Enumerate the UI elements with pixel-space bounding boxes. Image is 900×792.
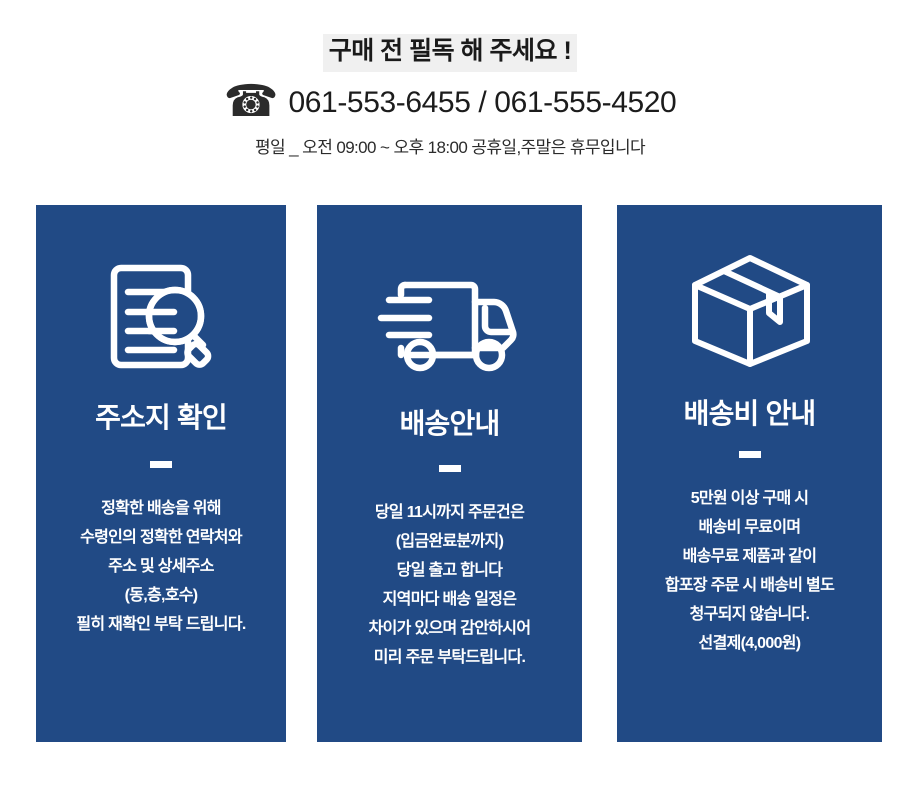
phone-row: ☎ 061-553-6455 / 061-555-4520 (0, 81, 900, 125)
delivery-truck-icon (375, 249, 525, 399)
document-magnifier-icon (102, 243, 220, 393)
shipping-info-graphic: 구매 전 필독 해 주세요 ! ☎ 061-553-6455 / 061-555… (0, 0, 900, 792)
card-heading: 배송안내 (400, 407, 500, 441)
card-divider (150, 461, 172, 468)
body-line: 당일 출고 합니다 (369, 556, 531, 585)
body-line: 지역마다 배송 일정은 (369, 585, 531, 614)
card-divider (739, 451, 761, 458)
package-box-icon (686, 235, 814, 385)
info-cards: 주소지 확인 정확한 배송을 위해 수령인의 정확한 연락처와 주소 및 상세주… (0, 205, 900, 742)
card-shipping-fee-guide: 배송비 안내 5만원 이상 구매 시 배송비 무료이며 배송무료 제품과 같이 … (617, 205, 882, 742)
body-line: 당일 11시까지 주문건은 (369, 498, 531, 527)
body-line: (동,층,호수) (76, 581, 245, 610)
card-body: 정확한 배송을 위해 수령인의 정확한 연락처와 주소 및 상세주소 (동,층,… (68, 494, 253, 639)
body-line: 5만원 이상 구매 시 (665, 484, 834, 513)
card-heading: 배송비 안내 (684, 397, 816, 431)
card-divider (439, 465, 461, 472)
body-line: (입금완료분까지) (369, 527, 531, 556)
body-line: 배송무료 제품과 같이 (665, 542, 834, 571)
card-address-confirmation: 주소지 확인 정확한 배송을 위해 수령인의 정확한 연락처와 주소 및 상세주… (36, 205, 286, 742)
body-line: 차이가 있으며 감안하시어 (369, 614, 531, 643)
body-line: 미리 주문 부탁드립니다. (369, 643, 531, 672)
body-line: 정확한 배송을 위해 (76, 494, 245, 523)
body-line: 선결제(4,000원) (665, 629, 834, 658)
body-line: 수령인의 정확한 연락처와 (76, 523, 245, 552)
body-line: 주소 및 상세주소 (76, 552, 245, 581)
telephone-icon: ☎ (224, 80, 279, 124)
body-line: 배송비 무료이며 (665, 513, 834, 542)
card-body: 5만원 이상 구매 시 배송비 무료이며 배송무료 제품과 같이 합포장 주문 … (657, 484, 842, 658)
card-heading: 주소지 확인 (95, 401, 227, 435)
card-delivery-guide: 배송안내 당일 11시까지 주문건은 (입금완료분까지) 당일 출고 합니다 지… (317, 205, 582, 742)
page-title: 구매 전 필독 해 주세요 ! (323, 34, 578, 72)
body-line: 필히 재확인 부탁 드립니다. (76, 610, 245, 639)
business-hours: 평일 _ 오전 09:00 ~ 오후 18:00 공휴일,주말은 휴무입니다 (0, 133, 900, 158)
body-line: 청구되지 않습니다. (665, 600, 834, 629)
header-section: 구매 전 필독 해 주세요 ! ☎ 061-553-6455 / 061-555… (0, 0, 900, 158)
body-line: 합포장 주문 시 배송비 별도 (665, 571, 834, 600)
card-body: 당일 11시까지 주문건은 (입금완료분까지) 당일 출고 합니다 지역마다 배… (361, 498, 539, 672)
phone-numbers: 061-553-6455 / 061-555-4520 (288, 86, 676, 120)
